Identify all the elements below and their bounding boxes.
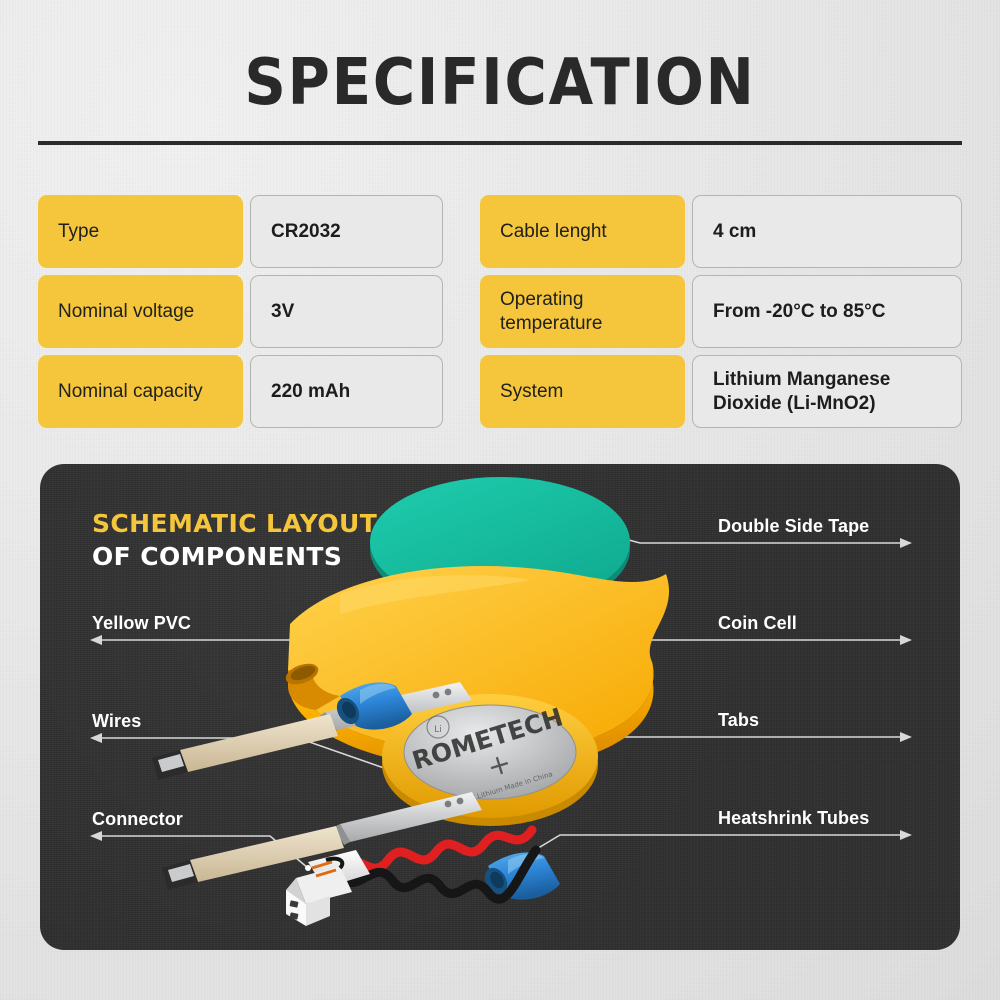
spec-value-system-line1: Lithium Manganese: [713, 368, 890, 392]
heatshrink-sleeve-upper-part: [152, 714, 338, 780]
spec-value-type: CR2032: [250, 195, 443, 268]
title-divider: [38, 141, 962, 145]
spec-label-nominal-voltage: Nominal voltage: [38, 275, 243, 348]
column-spacer: [443, 195, 480, 268]
specification-infographic: SPECIFICATION Type CR2032 Cable lenght 4…: [0, 0, 1000, 1000]
spec-value-nominal-voltage: 3V: [250, 275, 443, 348]
callout-label-double-side-tape: Double Side Tape: [718, 515, 869, 537]
callout-label-wires: Wires: [92, 710, 141, 732]
callout-label-yellow-pvc: Yellow PVC: [92, 612, 191, 634]
callout-label-connector: Connector: [92, 808, 183, 830]
column-spacer: [443, 355, 480, 428]
spec-label-system: System: [480, 355, 685, 428]
schematic-heading-line2: OF COMPONENTS: [92, 540, 377, 573]
coin-cell-mark-icon: Li: [434, 725, 442, 735]
spec-value-operating-temperature: From -20°C to 85°C: [692, 275, 962, 348]
schematic-panel: SCHEMATIC LAYOUT OF COMPONENTS: [40, 464, 960, 950]
callout-label-heatshrink-tubes: Heatshrink Tubes: [718, 807, 869, 829]
spec-value-system-line2: Dioxide (Li-MnO2): [713, 392, 890, 416]
spec-value-cable-lenght: 4 cm: [692, 195, 962, 268]
spec-label-type: Type: [38, 195, 243, 268]
specification-table: Type CR2032 Cable lenght 4 cm Nominal vo…: [38, 195, 962, 428]
page-title: SPECIFICATION: [50, 47, 950, 119]
spec-label-operating-temperature: Operating temperature: [480, 275, 685, 348]
connector-part: [286, 850, 370, 926]
schematic-heading: SCHEMATIC LAYOUT OF COMPONENTS: [92, 507, 377, 573]
spec-label-nominal-capacity: Nominal capacity: [38, 355, 243, 428]
callout-label-coin-cell: Coin Cell: [718, 612, 797, 634]
spec-value-system: Lithium Manganese Dioxide (Li-MnO2): [692, 355, 962, 428]
spec-value-nominal-capacity: 220 mAh: [250, 355, 443, 428]
spec-label-cable-lenght: Cable lenght: [480, 195, 685, 268]
callout-label-tabs: Tabs: [718, 709, 759, 731]
schematic-heading-line1: SCHEMATIC LAYOUT: [92, 507, 377, 540]
column-spacer: [443, 275, 480, 348]
